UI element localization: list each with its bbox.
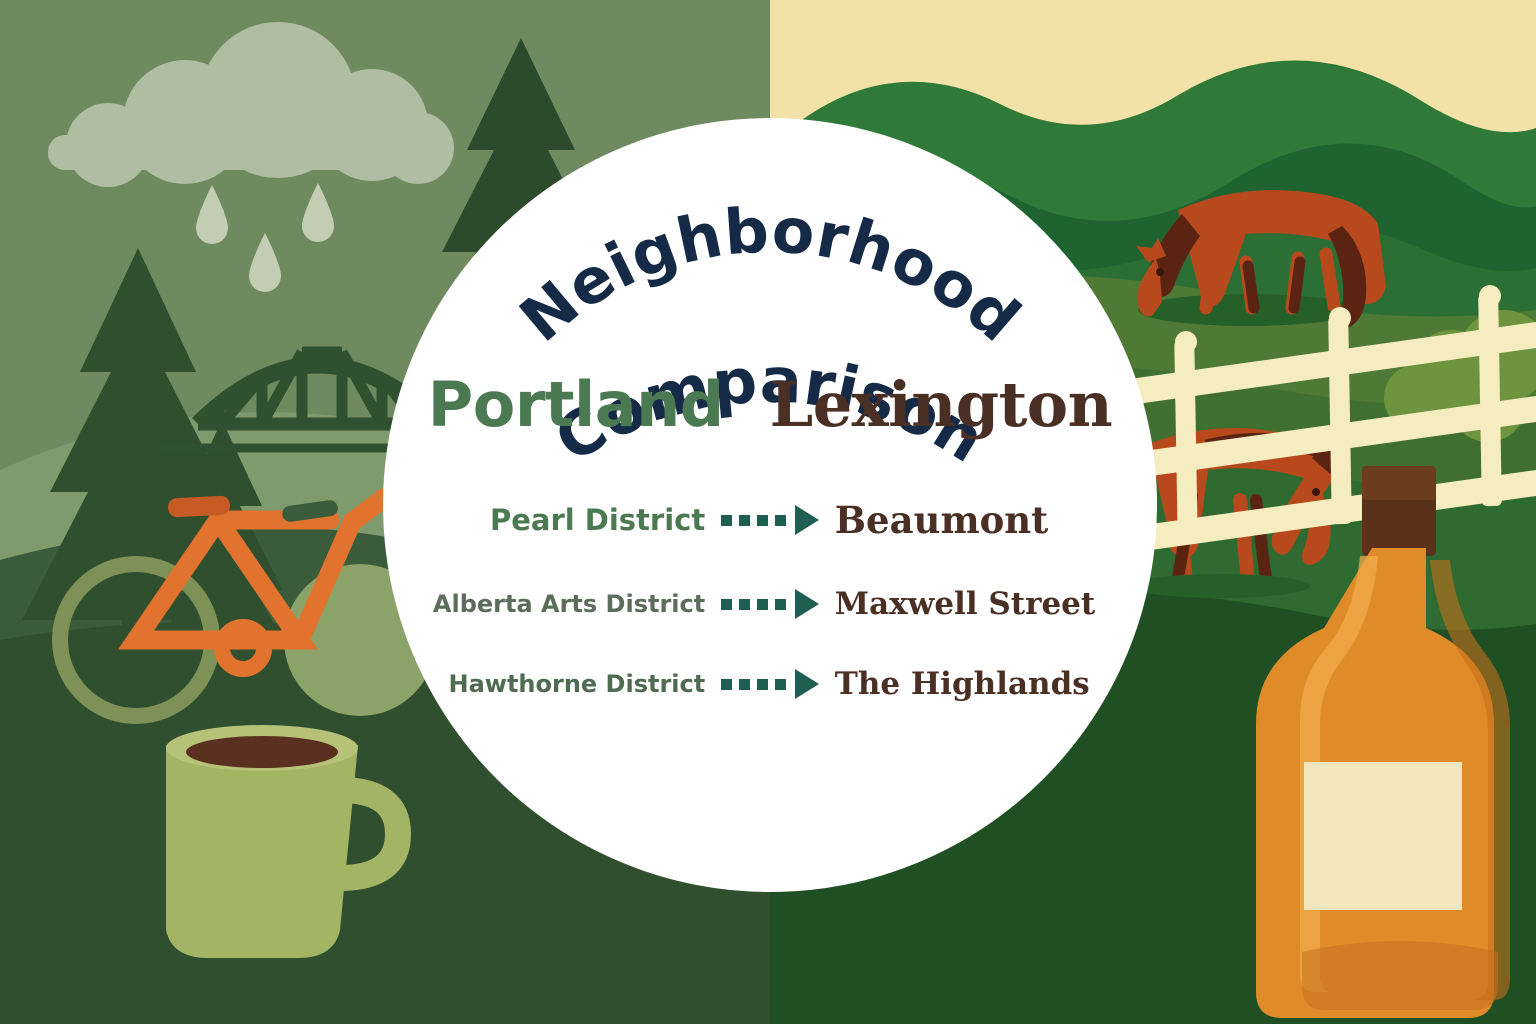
lexington-neighborhood: The Highlands — [821, 666, 1157, 702]
arrow-dash — [775, 679, 786, 690]
lexington-neighborhood: Beaumont — [821, 498, 1157, 542]
arrow-dash — [739, 679, 750, 690]
bottle-label — [1304, 762, 1462, 910]
list-item[interactable]: Pearl District Beaumont — [383, 498, 1157, 542]
portland-neighborhood: Pearl District — [383, 503, 719, 537]
arrow-dash — [721, 599, 732, 610]
arrow-dash — [739, 599, 750, 610]
arrow-head — [795, 589, 819, 619]
list-item[interactable]: Hawthorne District The Highlands — [383, 666, 1157, 702]
portland-neighborhood: Hawthorne District — [383, 670, 719, 698]
city-right-lexington: Lexington — [770, 368, 1113, 441]
arrow-dash — [721, 679, 732, 690]
arrow-dash — [757, 515, 768, 526]
arrow-dash — [775, 515, 786, 526]
dashed-arrow-right-icon — [719, 589, 821, 619]
arrow-dash — [739, 515, 750, 526]
dashed-arrow-right-icon — [719, 669, 821, 699]
lexington-neighborhood: Maxwell Street — [821, 586, 1157, 622]
infographic-canvas: Neighborhood Comparison Portland Lexingt… — [0, 0, 1536, 1024]
arrow-dash — [757, 679, 768, 690]
arrow-dash — [757, 599, 768, 610]
dashed-arrow-right-icon — [719, 505, 821, 535]
comparison-panel: Portland Lexington Pearl District Beaumo… — [383, 118, 1157, 892]
neighborhood-pairs-list: Pearl District Beaumont Alberta Arts Dis… — [383, 498, 1157, 702]
arrow-dash — [775, 599, 786, 610]
city-headers: Portland Lexington — [383, 368, 1157, 441]
arrow-head — [795, 669, 819, 699]
portland-neighborhood: Alberta Arts District — [383, 590, 719, 618]
city-left-portland: Portland — [428, 368, 724, 441]
arrow-dash — [721, 515, 732, 526]
list-item[interactable]: Alberta Arts District Maxwell Street — [383, 586, 1157, 622]
arrow-head — [795, 505, 819, 535]
